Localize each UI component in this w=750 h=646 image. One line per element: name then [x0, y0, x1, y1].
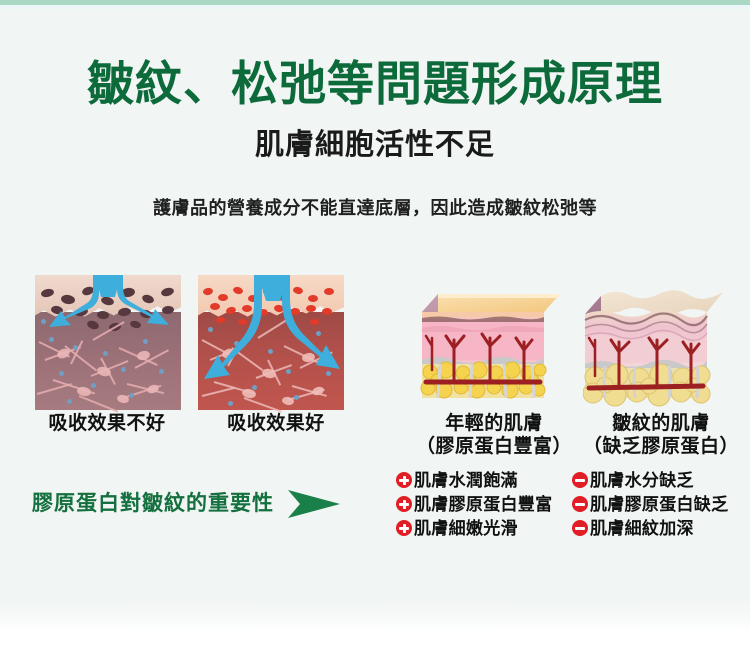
- list-item-label: 肌膚膠原蛋白缺乏: [590, 494, 728, 515]
- plus-circle-icon: [396, 472, 412, 488]
- top-pale-band: [0, 5, 750, 9]
- minus-circle-icon: [572, 496, 588, 512]
- infographic-page: 皺紋、松弛等問題形成原理 肌膚細胞活性不足 護膚品的營養成分不能直達底層，因此造…: [0, 0, 750, 646]
- caption-absorption-poor: 吸收效果不好: [14, 412, 200, 435]
- list-item: 肌膚膠原蛋白缺乏: [572, 492, 728, 516]
- plus-circle-icon: [396, 496, 412, 512]
- minus-circle-icon: [572, 520, 588, 536]
- list-item-label: 肌膚水潤飽滿: [414, 470, 518, 491]
- caption-absorption-good: 吸收效果好: [196, 412, 356, 435]
- caption-skin-young: 年輕的肌膚 （膠原蛋白豐富）: [396, 412, 592, 458]
- page-title: 皺紋、松弛等問題形成原理: [0, 55, 750, 112]
- skin-cross-section-vivid-icon: [198, 275, 344, 410]
- list-item-label: 肌膚膠原蛋白豐富: [414, 494, 552, 515]
- list-item-label: 肌膚細紋加深: [590, 518, 694, 539]
- page-subtitle: 肌膚細胞活性不足: [0, 127, 750, 163]
- illustration-row: [0, 272, 750, 412]
- list-item: 肌膚細嫩光滑: [396, 516, 552, 540]
- skin-block-young-icon: [420, 278, 568, 408]
- caption-skin-young-line2: （膠原蛋白豐富）: [396, 435, 592, 458]
- list-item: 肌膚細紋加深: [572, 516, 728, 540]
- lead-description: 護膚品的營養成分不能直達底層，因此造成皺紋松弛等: [0, 196, 750, 220]
- list-item-label: 肌膚細嫩光滑: [414, 518, 518, 539]
- collagen-importance-label: 膠原蛋白對皺紋的重要性: [32, 491, 274, 517]
- skin-cross-section-dull-icon: [35, 275, 181, 410]
- list-item: 肌膚水潤飽滿: [396, 468, 552, 492]
- absorption-arrow-deep-icon: [198, 275, 344, 410]
- caption-skin-wrinkled-line2: （缺乏膠原蛋白）: [572, 435, 750, 458]
- caption-skin-young-line1: 年輕的肌膚: [396, 412, 592, 435]
- bullet-list-negative: 肌膚水分缺乏 肌膚膠原蛋白缺乏 肌膚細紋加深: [572, 468, 728, 540]
- bullet-list-positive: 肌膚水潤飽滿 肌膚膠原蛋白豐富 肌膚細嫩光滑: [396, 468, 552, 540]
- caption-skin-wrinkled-line1: 皺紋的肌膚: [572, 412, 750, 435]
- list-item: 肌膚水分缺乏: [572, 468, 728, 492]
- plus-circle-icon: [396, 520, 412, 536]
- arrow-right-icon: [286, 487, 342, 521]
- absorption-arrow-shallow-icon: [35, 275, 181, 410]
- minus-circle-icon: [572, 472, 588, 488]
- list-item: 肌膚膠原蛋白豐富: [396, 492, 552, 516]
- skin-block-aged-icon: [583, 278, 731, 408]
- caption-skin-wrinkled: 皺紋的肌膚 （缺乏膠原蛋白）: [572, 412, 750, 458]
- list-item-label: 肌膚水分缺乏: [590, 470, 694, 491]
- collagen-importance-callout: 膠原蛋白對皺紋的重要性: [32, 487, 342, 521]
